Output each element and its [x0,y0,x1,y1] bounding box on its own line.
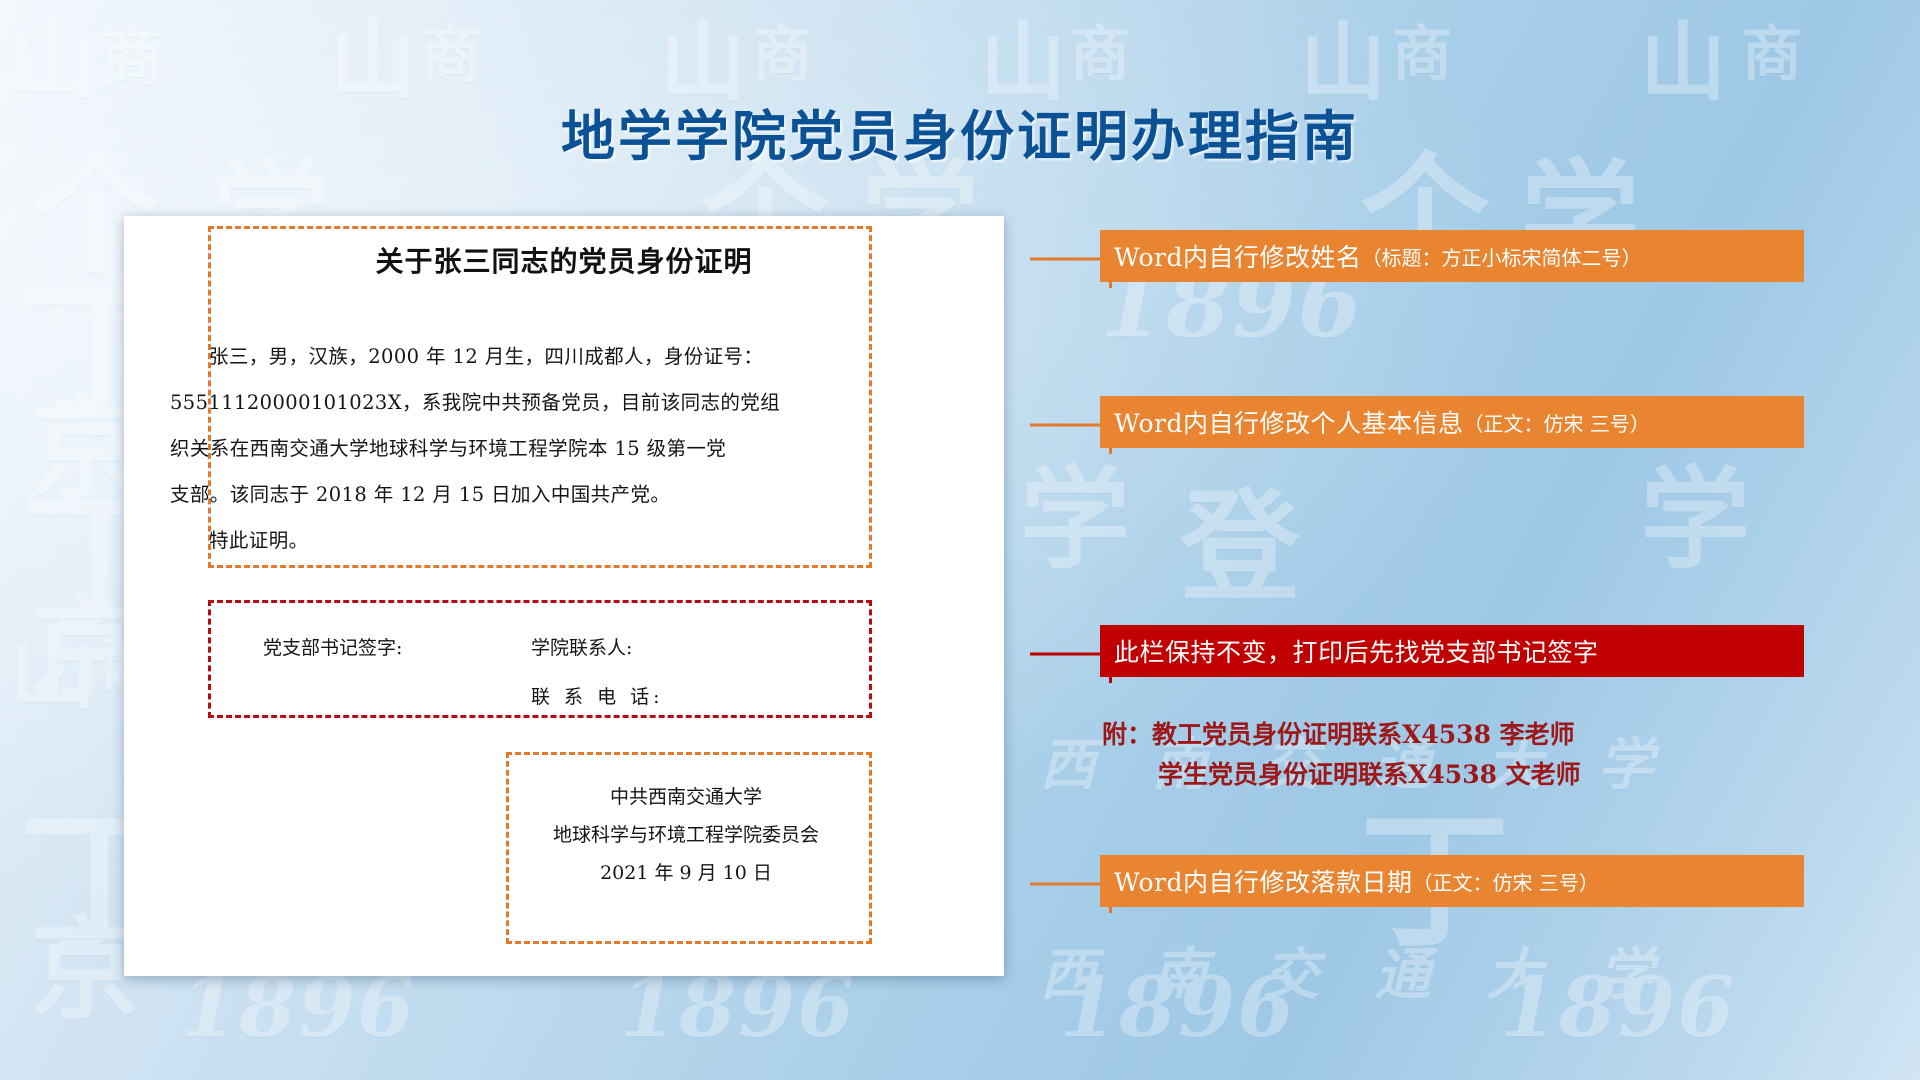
signature-region: 党支部书记签字: 学院联系人: 联 系 电 话: [208,600,872,718]
body-line-1: 张三，男，汉族，2000 年 12 月生，四川成都人，身份证号： [170,334,974,380]
body-line-4: 支部。该同志于 2018 年 12 月 15 日加入中国共产党。 [170,472,974,518]
body-line-5: 特此证明。 [170,518,974,564]
note-line-2: 学生党员身份证明联系X4538 文老师 [1102,755,1581,795]
footer-line-3: 2021 年 9 月 10 日 [506,854,866,892]
page-title: 地学学院党员身份证明办理指南 [0,92,1920,171]
slide-canvas: 山 商 山 商 山 商 山 商 山 商 山 商 个 学 个 学 个 学 丁 京 … [0,0,1920,1080]
document-footer: 中共西南交通大学 地球科学与环境工程学院委员会 2021 年 9 月 10 日 [506,778,866,892]
callout-name-main: Word内自行修改姓名 [1114,238,1362,274]
branch-secretary-label: 党支部书记签字: [263,633,402,660]
certificate-body: 张三，男，汉族，2000 年 12 月生，四川成都人，身份证号： 5551112… [170,334,974,564]
callout-basic-info-main: Word内自行修改个人基本信息 [1114,404,1464,440]
college-contact-group: 学院联系人: 联 系 电 话: [531,633,664,731]
callout-sign-date-paren: （正文：仿宋 三号） [1413,867,1599,896]
callout-name: Word内自行修改姓名 （标题：方正小标宋简体二号） [1100,230,1804,282]
note-line-1: 附：教工党员身份证明联系X4538 李老师 [1102,715,1581,755]
callout-basic-info-paren: （正文：仿宋 三号） [1464,408,1650,437]
callout-sign-date: Word内自行修改落款日期 （正文：仿宋 三号） [1100,855,1804,907]
college-contact-label: 学院联系人: [531,633,664,660]
footer-line-1: 中共西南交通大学 [506,778,866,816]
certificate-title: 关于张三同志的党员身份证明 [124,240,1004,280]
callout-keep-unchanged: 此栏保持不变，打印后先找党支部书记签字 [1100,625,1804,677]
callout-sign-date-main: Word内自行修改落款日期 [1114,863,1413,899]
body-line-3: 织关系在西南交通大学地球科学与环境工程学院本 15 级第一党 [170,426,974,472]
contact-phone-label: 联 系 电 话: [531,682,664,709]
callout-basic-info: Word内自行修改个人基本信息 （正文：仿宋 三号） [1100,396,1804,448]
callout-name-paren: （标题：方正小标宋简体二号） [1362,242,1642,271]
certificate-document: 关于张三同志的党员身份证明 张三，男，汉族，2000 年 12 月生，四川成都人… [124,216,1004,976]
footer-line-2: 地球科学与环境工程学院委员会 [506,816,866,854]
contact-note: 附：教工党员身份证明联系X4538 李老师 学生党员身份证明联系X4538 文老… [1102,715,1581,795]
callout-keep-unchanged-main: 此栏保持不变，打印后先找党支部书记签字 [1114,633,1599,669]
body-line-2: 55511120000101023X，系我院中共预备党员，目前该同志的党组 [170,380,974,426]
